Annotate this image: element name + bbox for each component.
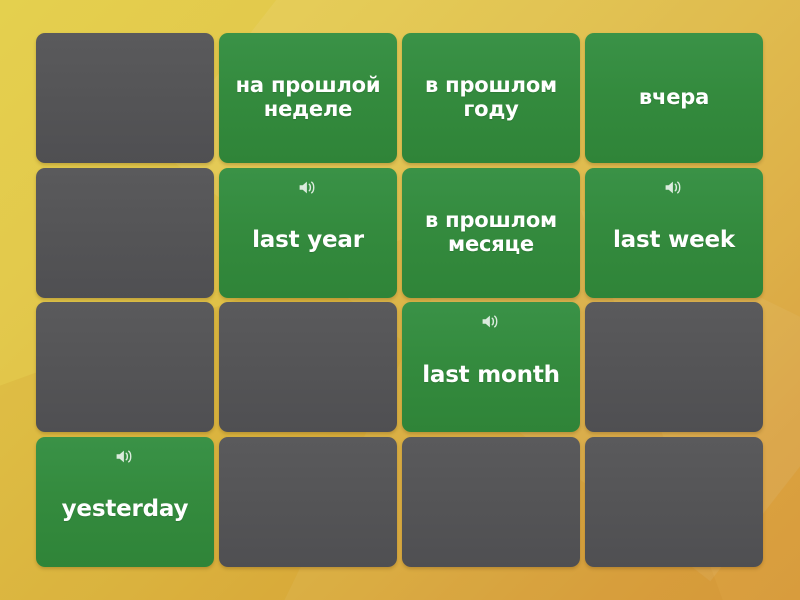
tile-blank-r4c3[interactable] — [402, 437, 580, 567]
tile-blank-r3c4[interactable] — [585, 302, 763, 432]
tile-card-r1c4[interactable]: вчера — [585, 33, 763, 163]
tile-blank-r4c4[interactable] — [585, 437, 763, 567]
tile-label: last year — [243, 228, 373, 254]
tile-blank-r3c2[interactable] — [219, 302, 397, 432]
tile-grid: на прошлой неделев прошлом годувчераlast… — [36, 33, 764, 567]
tile-label: вчера — [630, 86, 718, 110]
tile-card-r3c3[interactable]: last month — [402, 302, 580, 432]
matching-pairs-board: на прошлой неделев прошлом годувчераlast… — [0, 0, 800, 600]
tile-label: на прошлой неделе — [219, 74, 397, 121]
tile-card-r1c2[interactable]: на прошлой неделе — [219, 33, 397, 163]
tile-label: last month — [413, 363, 569, 389]
tile-label: yesterday — [53, 497, 198, 523]
tile-label: last week — [604, 228, 744, 254]
speaker-icon[interactable] — [115, 448, 135, 465]
tile-label: в прошлом году — [402, 74, 580, 121]
tile-blank-r3c1[interactable] — [36, 302, 214, 432]
tile-blank-r1c1[interactable] — [36, 33, 214, 163]
tile-card-r4c1[interactable]: yesterday — [36, 437, 214, 567]
tile-blank-r2c1[interactable] — [36, 168, 214, 298]
tile-card-r2c4[interactable]: last week — [585, 168, 763, 298]
tile-card-r2c3[interactable]: в прошлом месяце — [402, 168, 580, 298]
tile-label: в прошлом месяце — [402, 209, 580, 256]
tile-blank-r4c2[interactable] — [219, 437, 397, 567]
speaker-icon[interactable] — [481, 313, 501, 330]
speaker-icon[interactable] — [664, 179, 684, 196]
speaker-icon[interactable] — [298, 179, 318, 196]
tile-card-r1c3[interactable]: в прошлом году — [402, 33, 580, 163]
tile-card-r2c2[interactable]: last year — [219, 168, 397, 298]
